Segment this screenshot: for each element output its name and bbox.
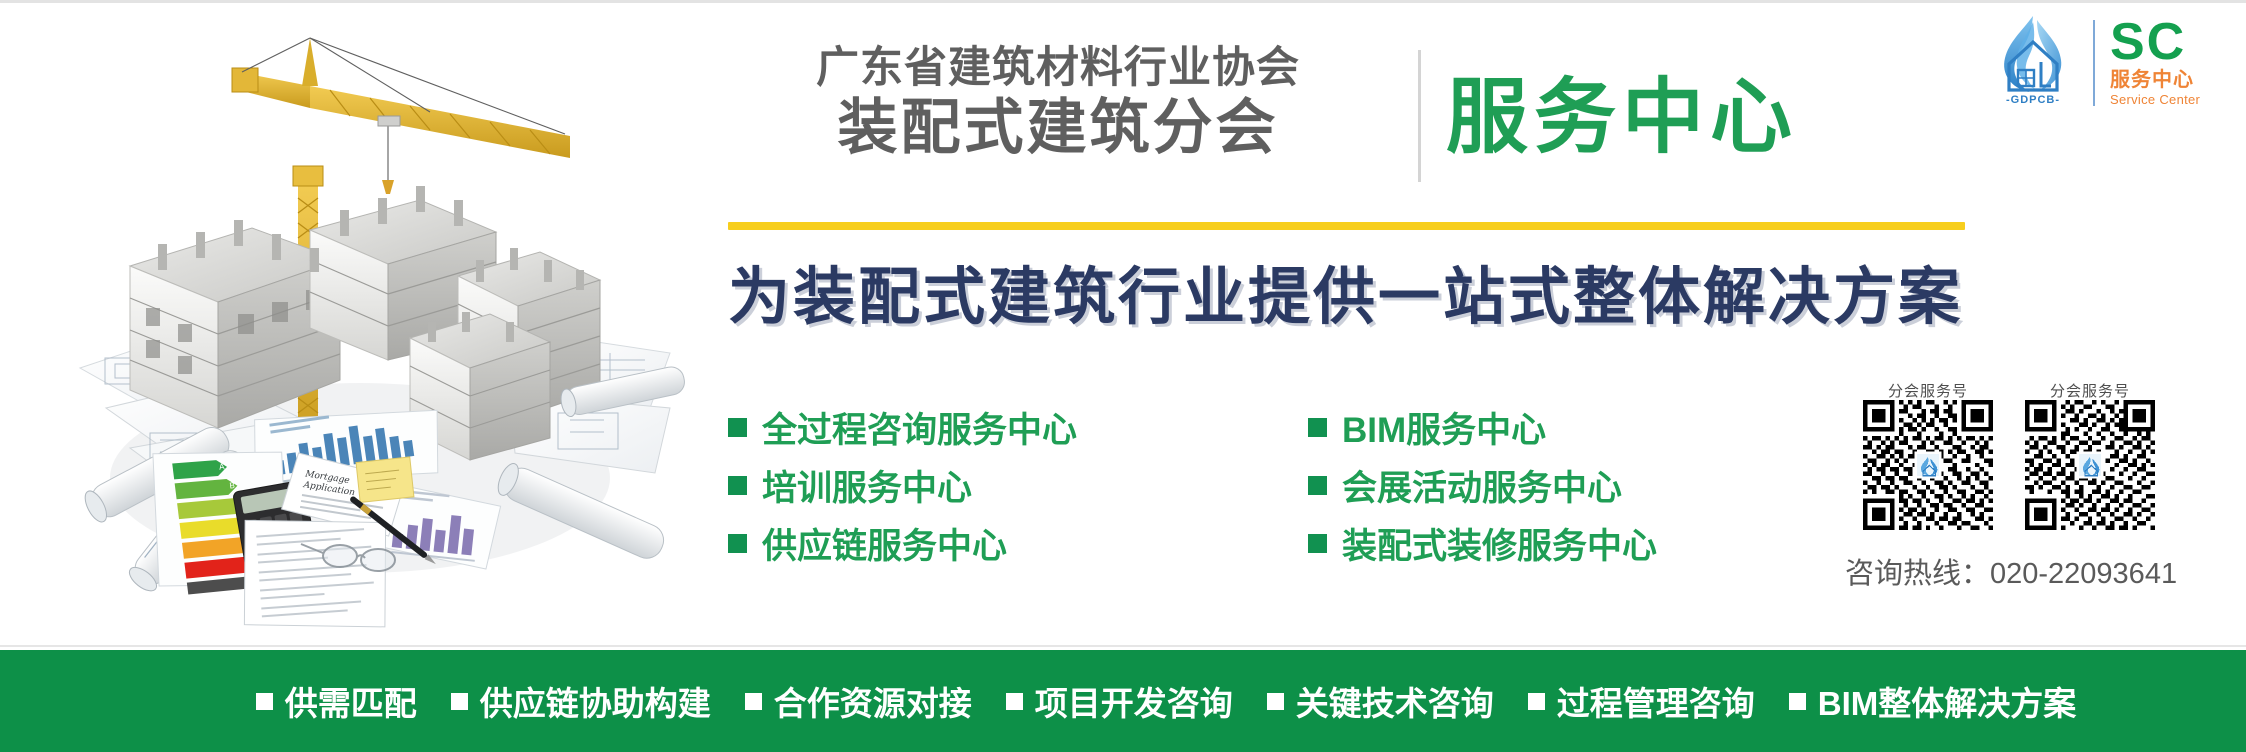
- green-bar-top-divider: [0, 645, 2246, 647]
- sc-mark-text: SC: [2110, 16, 2220, 68]
- list-item[interactable]: 合作资源对接: [745, 677, 972, 725]
- service-center-title: 服务中心: [1446, 58, 1798, 178]
- gdpcb-logo-text: -GDPCB-: [1985, 94, 2081, 106]
- qr-code-left[interactable]: 分会服务号: [1863, 400, 1993, 530]
- logo-cluster: -GDPCB- SC 服务中心 Service Center: [1985, 12, 2220, 112]
- sc-logo: SC 服务中心 Service Center: [2110, 16, 2220, 108]
- sc-english-label: Service Center: [2110, 92, 2220, 108]
- bottom-bar-label: 供应链协助构建: [480, 677, 711, 725]
- gold-divider: [728, 222, 1965, 230]
- hotline-text: 咨询热线：020-22093641: [1845, 550, 2235, 592]
- square-bullet-icon: [728, 534, 747, 553]
- list-item[interactable]: 会展活动服务中心: [1308, 456, 1828, 514]
- bottom-bar-label: 合作资源对接: [774, 677, 972, 725]
- bottom-bar-label: 供需匹配: [285, 677, 417, 725]
- page-subtitle: 为装配式建筑行业提供一站式整体解决方案: [728, 248, 1988, 348]
- square-bullet-icon: [1528, 693, 1545, 710]
- qr-label-right: 分会服务号: [2025, 380, 2155, 401]
- sticky-note: [356, 457, 414, 502]
- square-bullet-icon: [1267, 693, 1284, 710]
- service-label: 培训服务中心: [762, 460, 972, 511]
- bottom-bar-label: 关键技术咨询: [1296, 677, 1494, 725]
- qr-code-area: 分会服务号: [1845, 378, 2235, 588]
- square-bullet-icon: [1789, 693, 1806, 710]
- organization-name: 广东省建筑材料行业协会 装配式建筑分会: [728, 42, 1388, 162]
- bottom-bar-label: BIM整体解决方案: [1818, 677, 2077, 725]
- square-bullet-icon: [1308, 418, 1327, 437]
- square-bullet-icon: [451, 693, 468, 710]
- org-line-2: 装配式建筑分会: [728, 94, 1388, 162]
- qr-label-left: 分会服务号: [1863, 380, 1993, 401]
- bottom-bar-items: 供需匹配 供应链协助构建 合作资源对接 项目开发咨询 关键技术咨询 过程管理咨询: [136, 677, 2111, 725]
- top-divider: [0, 0, 2246, 3]
- list-item[interactable]: 供应链协助构建: [451, 677, 711, 725]
- qr-code-right[interactable]: 分会服务号: [2025, 400, 2155, 530]
- service-column-right: BIM服务中心 会展活动服务中心 装配式装修服务中心: [1308, 398, 1828, 572]
- square-bullet-icon: [745, 693, 762, 710]
- square-bullet-icon: [1006, 693, 1023, 710]
- banner-root: ABC DEF: [0, 0, 2246, 752]
- list-item[interactable]: 供应链服务中心: [728, 514, 1248, 572]
- square-bullet-icon: [256, 693, 273, 710]
- svg-text:B: B: [229, 481, 236, 491]
- square-bullet-icon: [1308, 476, 1327, 495]
- service-label: BIM服务中心: [1342, 402, 1546, 453]
- construction-photo: ABC DEF: [10, 8, 700, 638]
- list-item[interactable]: 过程管理咨询: [1528, 677, 1755, 725]
- list-item[interactable]: 培训服务中心: [728, 456, 1248, 514]
- square-bullet-icon: [728, 418, 747, 437]
- org-line-1: 广东省建筑材料行业协会: [728, 42, 1388, 94]
- bottom-bar-label: 过程管理咨询: [1557, 677, 1755, 725]
- sc-chinese-label: 服务中心: [2110, 68, 2220, 92]
- square-bullet-icon: [728, 476, 747, 495]
- service-label: 供应链服务中心: [762, 518, 1007, 569]
- bottom-green-bar: 供需匹配 供应链协助构建 合作资源对接 项目开发咨询 关键技术咨询 过程管理咨询: [0, 650, 2246, 752]
- list-item[interactable]: 关键技术咨询: [1267, 677, 1494, 725]
- title-vertical-divider: [1418, 50, 1421, 182]
- logo-divider: [2093, 20, 2095, 106]
- service-column-left: 全过程咨询服务中心 培训服务中心 供应链服务中心: [728, 398, 1248, 572]
- list-item[interactable]: 装配式装修服务中心: [1308, 514, 1828, 572]
- list-item[interactable]: BIM整体解决方案: [1789, 677, 2077, 725]
- list-item[interactable]: 全过程咨询服务中心: [728, 398, 1248, 456]
- qr-image-right: [2025, 400, 2155, 530]
- list-item[interactable]: BIM服务中心: [1308, 398, 1828, 456]
- bottom-bar-label: 项目开发咨询: [1035, 677, 1233, 725]
- service-label: 全过程咨询服务中心: [762, 402, 1077, 453]
- service-center-list: 全过程咨询服务中心 培训服务中心 供应链服务中心 BIM服务中心 会展活动服务中…: [728, 398, 1818, 588]
- square-bullet-icon: [1308, 534, 1327, 553]
- list-item[interactable]: 供需匹配: [256, 677, 417, 725]
- service-label: 会展活动服务中心: [1342, 460, 1622, 511]
- qr-image-left: [1863, 400, 1993, 530]
- list-item[interactable]: 项目开发咨询: [1006, 677, 1233, 725]
- service-label: 装配式装修服务中心: [1342, 518, 1657, 569]
